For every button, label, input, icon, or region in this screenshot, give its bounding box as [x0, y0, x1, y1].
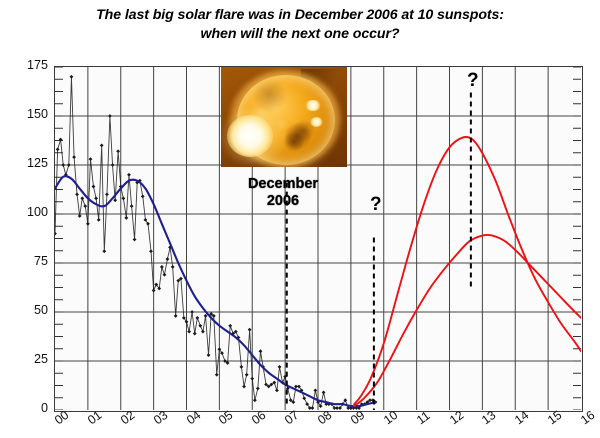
- forecast-curve-low: [354, 235, 581, 406]
- observed-data-point: [56, 147, 60, 151]
- observed-data-point: [253, 398, 257, 402]
- chart-page: The last big solar flare was in December…: [0, 0, 600, 438]
- y-tick-label: 75: [8, 254, 48, 268]
- y-tick-label: 175: [8, 58, 48, 72]
- observed-data-point: [141, 194, 145, 198]
- observed-data-point: [149, 249, 153, 253]
- observed-data-point: [275, 389, 279, 393]
- observed-data-point: [133, 238, 137, 242]
- observed-data-point: [259, 349, 263, 353]
- observed-data-point: [166, 257, 170, 261]
- y-tick-label: 0: [8, 401, 48, 415]
- question-mark-1: ?: [370, 194, 382, 216]
- observed-data-point: [97, 218, 101, 222]
- observed-data-point: [116, 149, 120, 153]
- observed-data-point: [124, 216, 128, 220]
- december-2006-line1: December: [216, 176, 350, 193]
- observed-data-point: [313, 389, 317, 393]
- observed-data-point: [245, 373, 249, 377]
- observed-data-point: [70, 75, 74, 79]
- observed-data-point: [94, 196, 98, 200]
- december-2006-annotation: December 2006: [216, 176, 350, 210]
- chart-title: The last big solar flare was in December…: [0, 6, 600, 44]
- observed-data-point: [108, 114, 112, 118]
- observed-data-point: [121, 196, 125, 200]
- observed-data-point: [55, 232, 57, 236]
- observed-data-point: [105, 193, 109, 197]
- observed-data-point: [171, 265, 175, 269]
- observed-data-point: [228, 324, 232, 328]
- observed-data-point: [242, 385, 246, 389]
- y-tick-label: 50: [8, 303, 48, 317]
- observed-data-point: [160, 265, 164, 269]
- observed-data-point: [83, 204, 87, 208]
- observed-data-point: [207, 353, 211, 357]
- observed-data-point: [67, 163, 71, 167]
- observed-data-point: [61, 163, 65, 167]
- observed-data-point: [278, 365, 282, 369]
- observed-data-point: [127, 173, 131, 177]
- observed-data-point: [248, 328, 252, 332]
- observed-data-point: [174, 314, 178, 318]
- observed-data-point: [163, 273, 167, 277]
- observed-data-point: [72, 155, 76, 159]
- y-axis-tick-labels: 0255075100125150175: [8, 66, 48, 412]
- y-tick-label: 125: [8, 156, 48, 170]
- observed-data-point: [187, 330, 191, 334]
- chart-title-line1: The last big solar flare was in December…: [96, 7, 504, 23]
- active-region-icon: [305, 100, 321, 111]
- december-2006-line2: 2006: [216, 193, 350, 210]
- observed-data-point: [89, 157, 93, 161]
- observed-data-point: [75, 193, 79, 197]
- active-region-2-icon: [310, 117, 323, 127]
- observed-data-point: [100, 144, 104, 148]
- observed-data-point: [302, 396, 306, 400]
- observed-data-point: [190, 310, 194, 314]
- solar-flare-photo: [221, 67, 347, 167]
- y-tick-label: 100: [8, 205, 48, 219]
- y-tick-label: 25: [8, 352, 48, 366]
- chart-title-line2: when will the next one occur?: [0, 25, 600, 44]
- solar-flare-icon: [227, 115, 273, 157]
- question-mark-2: ?: [467, 70, 479, 92]
- observed-data-point: [86, 222, 90, 226]
- observed-data-point: [195, 316, 199, 320]
- observed-data-point: [215, 373, 219, 377]
- observed-data-point: [322, 390, 326, 394]
- observed-data-point: [256, 387, 260, 391]
- observed-data-point: [201, 330, 205, 334]
- observed-data-point: [198, 324, 202, 328]
- observed-data-point: [92, 185, 96, 189]
- observed-data-point: [113, 198, 117, 202]
- observed-data-point: [130, 204, 134, 208]
- observed-data-point: [152, 289, 156, 293]
- x-tick-label: 11: [414, 408, 433, 427]
- observed-data-point: [78, 214, 82, 218]
- y-tick-label: 150: [8, 107, 48, 121]
- observed-data-point: [80, 196, 84, 200]
- observed-data-point: [250, 377, 254, 381]
- observed-data-point: [102, 249, 106, 253]
- observed-data-point: [193, 332, 197, 336]
- plot-area: [54, 66, 583, 412]
- observed-data-point: [311, 406, 315, 410]
- x-axis-tick-labels: 0001020304050607080910111213141516: [54, 412, 583, 438]
- observed-data-point: [111, 163, 115, 167]
- observed-data-point: [240, 365, 244, 369]
